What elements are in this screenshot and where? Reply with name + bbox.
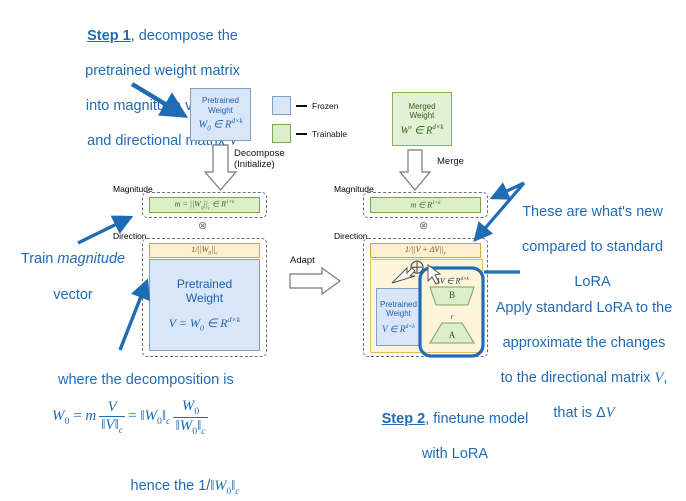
legend-trainable-dash: [296, 133, 307, 135]
direction-inner-title-left-2: Weight: [186, 291, 223, 305]
legend-frozen-swatch: [272, 96, 291, 115]
equation-frac-1-num: V: [106, 399, 119, 416]
legend-trainable-swatch: [272, 124, 291, 143]
equation-frac-1-den: ‖V‖c: [99, 416, 125, 436]
equation-frac-1: V ‖V‖c: [99, 399, 125, 436]
legend-trainable-label: Trainable: [312, 129, 347, 139]
annotation-step-2: Step 2, finetune model with LoRA: [355, 393, 555, 463]
annotation-whats-new: These are what's new compared to standar…: [505, 186, 680, 291]
apply-lora-line4: that is ΔV: [553, 405, 614, 421]
legend-frozen-label: Frozen: [312, 101, 338, 111]
decomposition-equation: W0 = m V ‖V‖c = ‖W0‖c W0 ‖W0‖c: [52, 398, 312, 437]
step-2-line2: with LoRA: [422, 446, 488, 462]
direction-inner-formula-right: V ∈ Rd×k: [382, 324, 415, 335]
direction-label-right: Direction: [334, 231, 368, 241]
step-1-line2: pretrained weight matrix: [85, 63, 240, 79]
merge-label: Merge: [437, 156, 464, 167]
equation-frac-2-num: W0: [180, 398, 201, 417]
adapt-label: Adapt: [290, 255, 315, 266]
apply-lora-line2: approximate the changes: [503, 335, 666, 351]
multiply-symbol-left: ⊗: [198, 219, 207, 232]
direction-inner-box-left: Pretrained Weight V = W0 ∈ Rd×k: [149, 259, 260, 351]
whats-new-line2: compared to standard: [522, 239, 663, 255]
direction-inner-title-right-1: Pretrained: [380, 300, 417, 310]
train-magnitude-line2: vector: [53, 287, 93, 303]
magnitude-box-left: m = ||W0||c ∈ R1×k: [149, 197, 260, 213]
annotation-train-magnitude: Train magnitude vector: [14, 232, 132, 304]
equation-middle: = ‖W0‖c: [128, 408, 170, 427]
merged-weight-formula: W′ ∈ Rd×k: [401, 124, 444, 137]
train-magnitude-line1-pre: Train: [21, 251, 58, 267]
step-2-label: Step 2: [382, 411, 426, 427]
direction-inner-title-left-1: Pretrained: [177, 277, 232, 291]
decompose-label: Decompose (Initialize): [234, 148, 314, 170]
whats-new-line1: These are what's new: [522, 204, 663, 220]
legend-frozen-dash: [296, 105, 307, 107]
merged-weight-box: Merged Weight W′ ∈ Rd×k: [392, 92, 452, 146]
direction-inner-title-left: Pretrained Weight: [177, 277, 232, 305]
apply-lora-line1: Apply standard LoRA to the: [496, 300, 673, 316]
direction-inner-formula-left: V = W0 ∈ Rd×k: [169, 315, 241, 332]
block-arrow-adapt: [290, 268, 340, 294]
magnitude-formula-right: m ∈ R1×k: [410, 200, 440, 210]
diagram-canvas: Step 1, decompose the pretrained weight …: [0, 0, 686, 500]
pretrained-weight-box: Pretrained Weight W0 ∈ Rd×k: [190, 88, 251, 141]
lora-rank-label: r: [424, 313, 480, 321]
lora-b-label: B: [424, 290, 480, 300]
magnitude-box-right: m ∈ R1×k: [370, 197, 481, 213]
apply-lora-line3: to the directional matrix V,: [501, 370, 668, 386]
multiply-symbol-right: ⊗: [419, 219, 428, 232]
annotation-where-decomposition: where the decomposition is: [58, 372, 318, 390]
magnitude-formula-left: m = ||W0||c ∈ R1×k: [175, 199, 235, 211]
direction-inner-box-right: Pretrained Weight V ∈ Rd×k: [376, 288, 421, 346]
block-arrow-merge: [400, 150, 430, 190]
pretrained-weight-title-1: Pretrained: [202, 96, 239, 106]
equation-lhs: W0 = m: [52, 408, 96, 427]
lora-a-label: A: [424, 330, 480, 340]
norm-strip-formula-right: 1/||V + ΔV||c: [405, 245, 446, 257]
equation-frac-2: W0 ‖W0‖c: [173, 398, 207, 437]
plus-icon: ⨁: [410, 258, 424, 275]
decompose-label-line1: Decompose: [234, 148, 314, 159]
direction-inner-title-right-2: Weight: [386, 309, 411, 319]
annotation-hence: hence the 1/‖W0‖c: [60, 460, 310, 501]
norm-strip-right: 1/||V + ΔV||c: [370, 243, 481, 258]
legend: Frozen Trainable: [272, 96, 382, 143]
step-1-label: Step 1: [87, 28, 131, 44]
pretrained-weight-formula: W0 ∈ Rd×k: [198, 118, 242, 133]
block-arrow-decompose: [205, 145, 236, 190]
pretrained-weight-title-2: Weight: [208, 106, 233, 116]
step-2-rest: , finetune model: [425, 411, 528, 427]
train-magnitude-line1-em: magnitude: [57, 251, 125, 267]
decompose-label-line2: (Initialize): [234, 159, 314, 170]
step-1-rest: , decompose the: [131, 28, 238, 44]
merged-weight-title-1: Merged: [408, 102, 435, 112]
norm-strip-left: 1/||W0||c: [149, 243, 260, 258]
merged-weight-title-2: Weight: [410, 111, 435, 121]
equation-frac-2-den: ‖W0‖c: [173, 417, 207, 437]
norm-strip-formula-left: 1/||W0||c: [191, 245, 218, 257]
